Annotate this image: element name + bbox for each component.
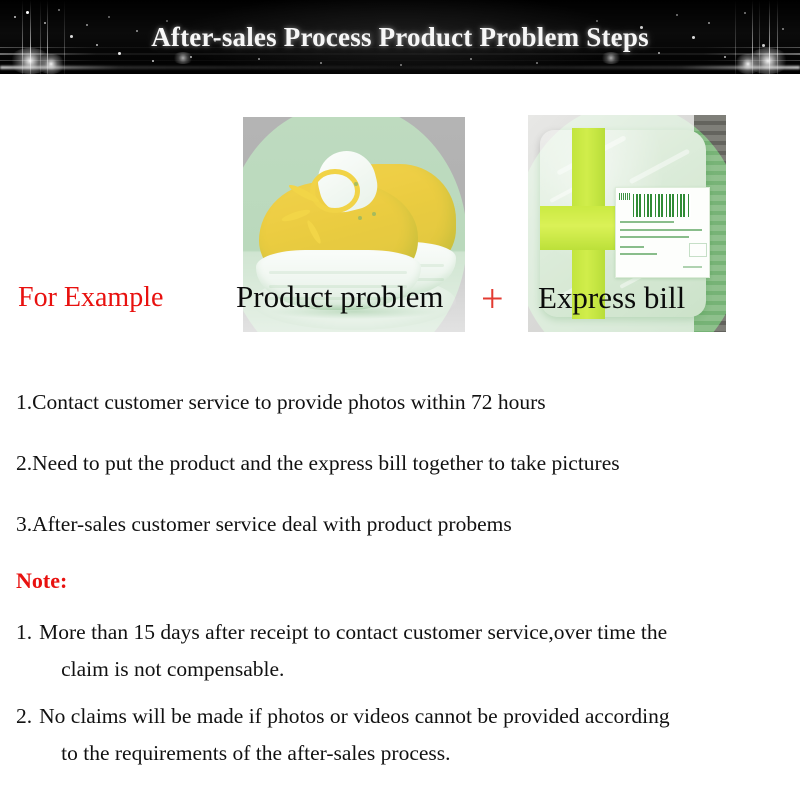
barcode-art [633,194,691,217]
shoe-lace-art [310,169,360,213]
note-number: 1. [16,614,39,688]
example-section: For Example [0,74,800,364]
step-item: 2.Need to put the product and the expres… [16,451,786,476]
label-code-art [619,193,630,200]
note-number: 2. [16,698,39,772]
page-header-banner: After-sales Process Product Problem Step… [0,0,800,74]
step-item: 1.Contact customer service to provide ph… [16,390,786,415]
note-item: 2. No claims will be made if photos or v… [16,698,792,772]
for-example-label: For Example [18,282,163,314]
page-title: After-sales Process Product Problem Step… [0,0,800,74]
step-item: 3.After-sales customer service deal with… [16,512,786,537]
note-line-2: to the requirements of the after-sales p… [39,735,792,772]
note-section: Note: 1. More than 15 days after receipt… [16,568,792,782]
note-line-1: More than 15 days after receipt to conta… [39,620,667,644]
note-line-2: claim is not compensable. [39,651,792,688]
note-text: No claims will be made if photos or vide… [39,698,792,772]
shipping-label-art [615,187,710,278]
product-problem-caption: Product problem [236,279,444,315]
note-line-1: No claims will be made if photos or vide… [39,704,670,728]
plus-icon: + [481,279,504,319]
note-heading: Note: [16,568,792,594]
express-bill-caption: Express bill [538,280,685,316]
steps-list: 1.Contact customer service to provide ph… [16,390,786,573]
note-text: More than 15 days after receipt to conta… [39,614,792,688]
note-item: 1. More than 15 days after receipt to co… [16,614,792,688]
